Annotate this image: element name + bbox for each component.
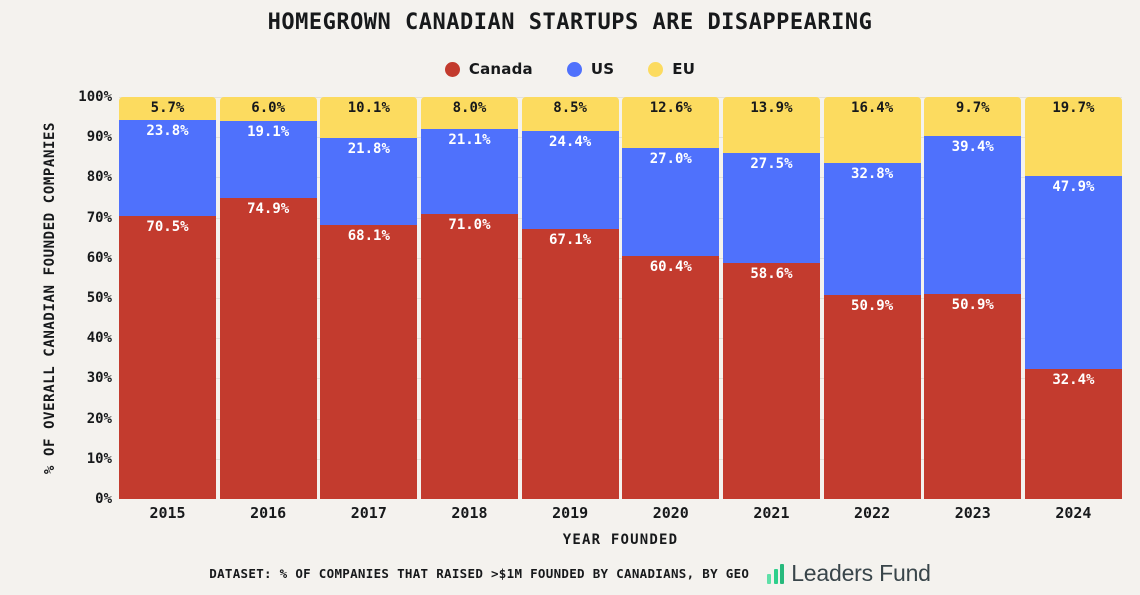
bar-value-label: 50.9% <box>824 298 921 315</box>
bar-segment-canada-2015[interactable]: 70.5% <box>119 216 216 499</box>
y-axis-tick-label: 10% <box>58 451 112 467</box>
bar-value-label: 12.6% <box>622 100 719 117</box>
x-axis-tick-label-2023: 2023 <box>924 504 1021 522</box>
bar-value-label: 32.8% <box>824 166 921 183</box>
bar-segment-eu-2015[interactable]: 5.7% <box>119 97 216 120</box>
chart-footer: DATASET: % OF COMPANIES THAT RAISED >$1M… <box>0 560 1140 587</box>
x-axis-tick-label-2022: 2022 <box>824 504 921 522</box>
legend-swatch-icon <box>445 62 460 77</box>
y-axis-tick-label: 50% <box>58 290 112 306</box>
bar-segment-eu-2021[interactable]: 13.9% <box>723 97 820 153</box>
bar-value-label: 21.8% <box>320 141 417 158</box>
plot-area: 5.7%23.8%70.5%6.0%19.1%74.9%10.1%21.8%68… <box>119 97 1122 499</box>
bar-segment-us-2015[interactable]: 23.8% <box>119 120 216 216</box>
bar-segment-eu-2018[interactable]: 8.0% <box>421 97 518 129</box>
chart-legend: CanadaUSEU <box>0 60 1140 78</box>
bar-value-label: 47.9% <box>1025 179 1122 196</box>
legend-item-eu[interactable]: EU <box>648 60 695 78</box>
bar-segment-us-2024[interactable]: 47.9% <box>1025 176 1122 369</box>
bar-column-2017[interactable]: 10.1%21.8%68.1% <box>320 97 417 499</box>
brand-logo: Leaders Fund <box>767 560 931 587</box>
bar-segment-us-2023[interactable]: 39.4% <box>924 136 1021 294</box>
bar-segment-canada-2018[interactable]: 71.0% <box>421 214 518 499</box>
bars-layer: 5.7%23.8%70.5%6.0%19.1%74.9%10.1%21.8%68… <box>119 97 1122 499</box>
bar-segment-canada-2020[interactable]: 60.4% <box>622 256 719 499</box>
bar-value-label: 24.4% <box>522 134 619 151</box>
bar-value-label: 19.1% <box>220 124 317 141</box>
bar-value-label: 32.4% <box>1025 372 1122 389</box>
x-axis-title: YEAR FOUNDED <box>119 532 1122 548</box>
chart-page: HOMEGROWN CANADIAN STARTUPS ARE DISAPPEA… <box>0 0 1140 595</box>
dataset-note: DATASET: % OF COMPANIES THAT RAISED >$1M… <box>209 566 749 581</box>
bar-value-label: 67.1% <box>522 232 619 249</box>
x-axis-tick-label-2015: 2015 <box>119 504 216 522</box>
x-axis-tick-label-2017: 2017 <box>320 504 417 522</box>
bar-value-label: 5.7% <box>119 100 216 117</box>
y-axis-tick-label: 40% <box>58 330 112 346</box>
bar-chart-icon <box>767 564 784 584</box>
bar-segment-us-2022[interactable]: 32.8% <box>824 163 921 295</box>
bar-value-label: 10.1% <box>320 100 417 117</box>
bar-value-label: 27.0% <box>622 151 719 168</box>
bar-column-2022[interactable]: 16.4%32.8%50.9% <box>824 97 921 499</box>
bar-segment-eu-2016[interactable]: 6.0% <box>220 97 317 121</box>
bar-segment-us-2017[interactable]: 21.8% <box>320 138 417 226</box>
bar-segment-eu-2024[interactable]: 19.7% <box>1025 97 1122 176</box>
y-axis-tick-label: 60% <box>58 250 112 266</box>
x-axis-tick-label-2020: 2020 <box>622 504 719 522</box>
x-axis-tick-label-2016: 2016 <box>220 504 317 522</box>
bar-column-2019[interactable]: 8.5%24.4%67.1% <box>522 97 619 499</box>
bar-segment-canada-2021[interactable]: 58.6% <box>723 263 820 499</box>
bar-segment-canada-2022[interactable]: 50.9% <box>824 295 921 499</box>
legend-item-us[interactable]: US <box>567 60 614 78</box>
bar-value-label: 9.7% <box>924 100 1021 117</box>
bar-value-label: 68.1% <box>320 228 417 245</box>
bar-value-label: 23.8% <box>119 123 216 140</box>
bar-value-label: 70.5% <box>119 219 216 236</box>
bar-column-2024[interactable]: 19.7%47.9%32.4% <box>1025 97 1122 499</box>
x-axis-tick-label-2018: 2018 <box>421 504 518 522</box>
bar-value-label: 50.9% <box>924 297 1021 314</box>
bar-segment-canada-2023[interactable]: 50.9% <box>924 294 1021 499</box>
bar-value-label: 58.6% <box>723 266 820 283</box>
bar-segment-us-2016[interactable]: 19.1% <box>220 121 317 198</box>
bar-value-label: 71.0% <box>421 217 518 234</box>
bar-column-2023[interactable]: 9.7%39.4%50.9% <box>924 97 1021 499</box>
bar-value-label: 60.4% <box>622 259 719 276</box>
y-axis-tick-label: 100% <box>58 89 112 105</box>
y-axis-tick-label: 20% <box>58 411 112 427</box>
y-axis-title: % OF OVERALL CANADIAN FOUNDED COMPANIES <box>42 98 58 498</box>
bar-value-label: 16.4% <box>824 100 921 117</box>
bar-segment-eu-2022[interactable]: 16.4% <box>824 97 921 163</box>
bar-column-2021[interactable]: 13.9%27.5%58.6% <box>723 97 820 499</box>
bar-value-label: 21.1% <box>421 132 518 149</box>
legend-swatch-icon <box>648 62 663 77</box>
bar-value-label: 8.0% <box>421 100 518 117</box>
legend-label: US <box>591 60 614 78</box>
legend-label: Canada <box>469 60 533 78</box>
bar-segment-eu-2019[interactable]: 8.5% <box>522 97 619 131</box>
bar-segment-eu-2020[interactable]: 12.6% <box>622 97 719 148</box>
bar-segment-eu-2023[interactable]: 9.7% <box>924 97 1021 136</box>
bar-segment-canada-2016[interactable]: 74.9% <box>220 198 317 499</box>
x-axis-tick-label-2021: 2021 <box>723 504 820 522</box>
x-axis-ticks: 2015201620172018201920202021202220232024 <box>119 504 1122 522</box>
bar-segment-eu-2017[interactable]: 10.1% <box>320 97 417 138</box>
y-axis-tick-label: 70% <box>58 210 112 226</box>
bar-value-label: 27.5% <box>723 156 820 173</box>
bar-segment-us-2018[interactable]: 21.1% <box>421 129 518 214</box>
x-axis-tick-label-2019: 2019 <box>522 504 619 522</box>
bar-segment-canada-2024[interactable]: 32.4% <box>1025 369 1122 499</box>
y-axis-ticks: 100%90%80%70%60%50%40%30%20%10%0% <box>58 97 112 499</box>
y-axis-tick-label: 0% <box>58 491 112 507</box>
bar-column-2016[interactable]: 6.0%19.1%74.9% <box>220 97 317 499</box>
bar-column-2018[interactable]: 8.0%21.1%71.0% <box>421 97 518 499</box>
bar-value-label: 74.9% <box>220 201 317 218</box>
bar-value-label: 13.9% <box>723 100 820 117</box>
page-title: HOMEGROWN CANADIAN STARTUPS ARE DISAPPEA… <box>0 10 1140 35</box>
bar-segment-us-2019[interactable]: 24.4% <box>522 131 619 229</box>
legend-label: EU <box>672 60 695 78</box>
bar-value-label: 19.7% <box>1025 100 1122 117</box>
bar-column-2015[interactable]: 5.7%23.8%70.5% <box>119 97 216 499</box>
bar-value-label: 6.0% <box>220 100 317 117</box>
legend-item-canada[interactable]: Canada <box>445 60 533 78</box>
brand-name: Leaders Fund <box>791 560 931 587</box>
y-axis-tick-label: 80% <box>58 169 112 185</box>
bar-segment-canada-2017[interactable]: 68.1% <box>320 225 417 499</box>
x-axis-tick-label-2024: 2024 <box>1025 504 1122 522</box>
y-axis-tick-label: 90% <box>58 129 112 145</box>
bar-column-2020[interactable]: 12.6%27.0%60.4% <box>622 97 719 499</box>
bar-segment-us-2021[interactable]: 27.5% <box>723 153 820 264</box>
bar-segment-canada-2019[interactable]: 67.1% <box>522 229 619 499</box>
bar-value-label: 39.4% <box>924 139 1021 156</box>
legend-swatch-icon <box>567 62 582 77</box>
bar-value-label: 8.5% <box>522 100 619 117</box>
y-axis-tick-label: 30% <box>58 370 112 386</box>
bar-segment-us-2020[interactable]: 27.0% <box>622 148 719 257</box>
